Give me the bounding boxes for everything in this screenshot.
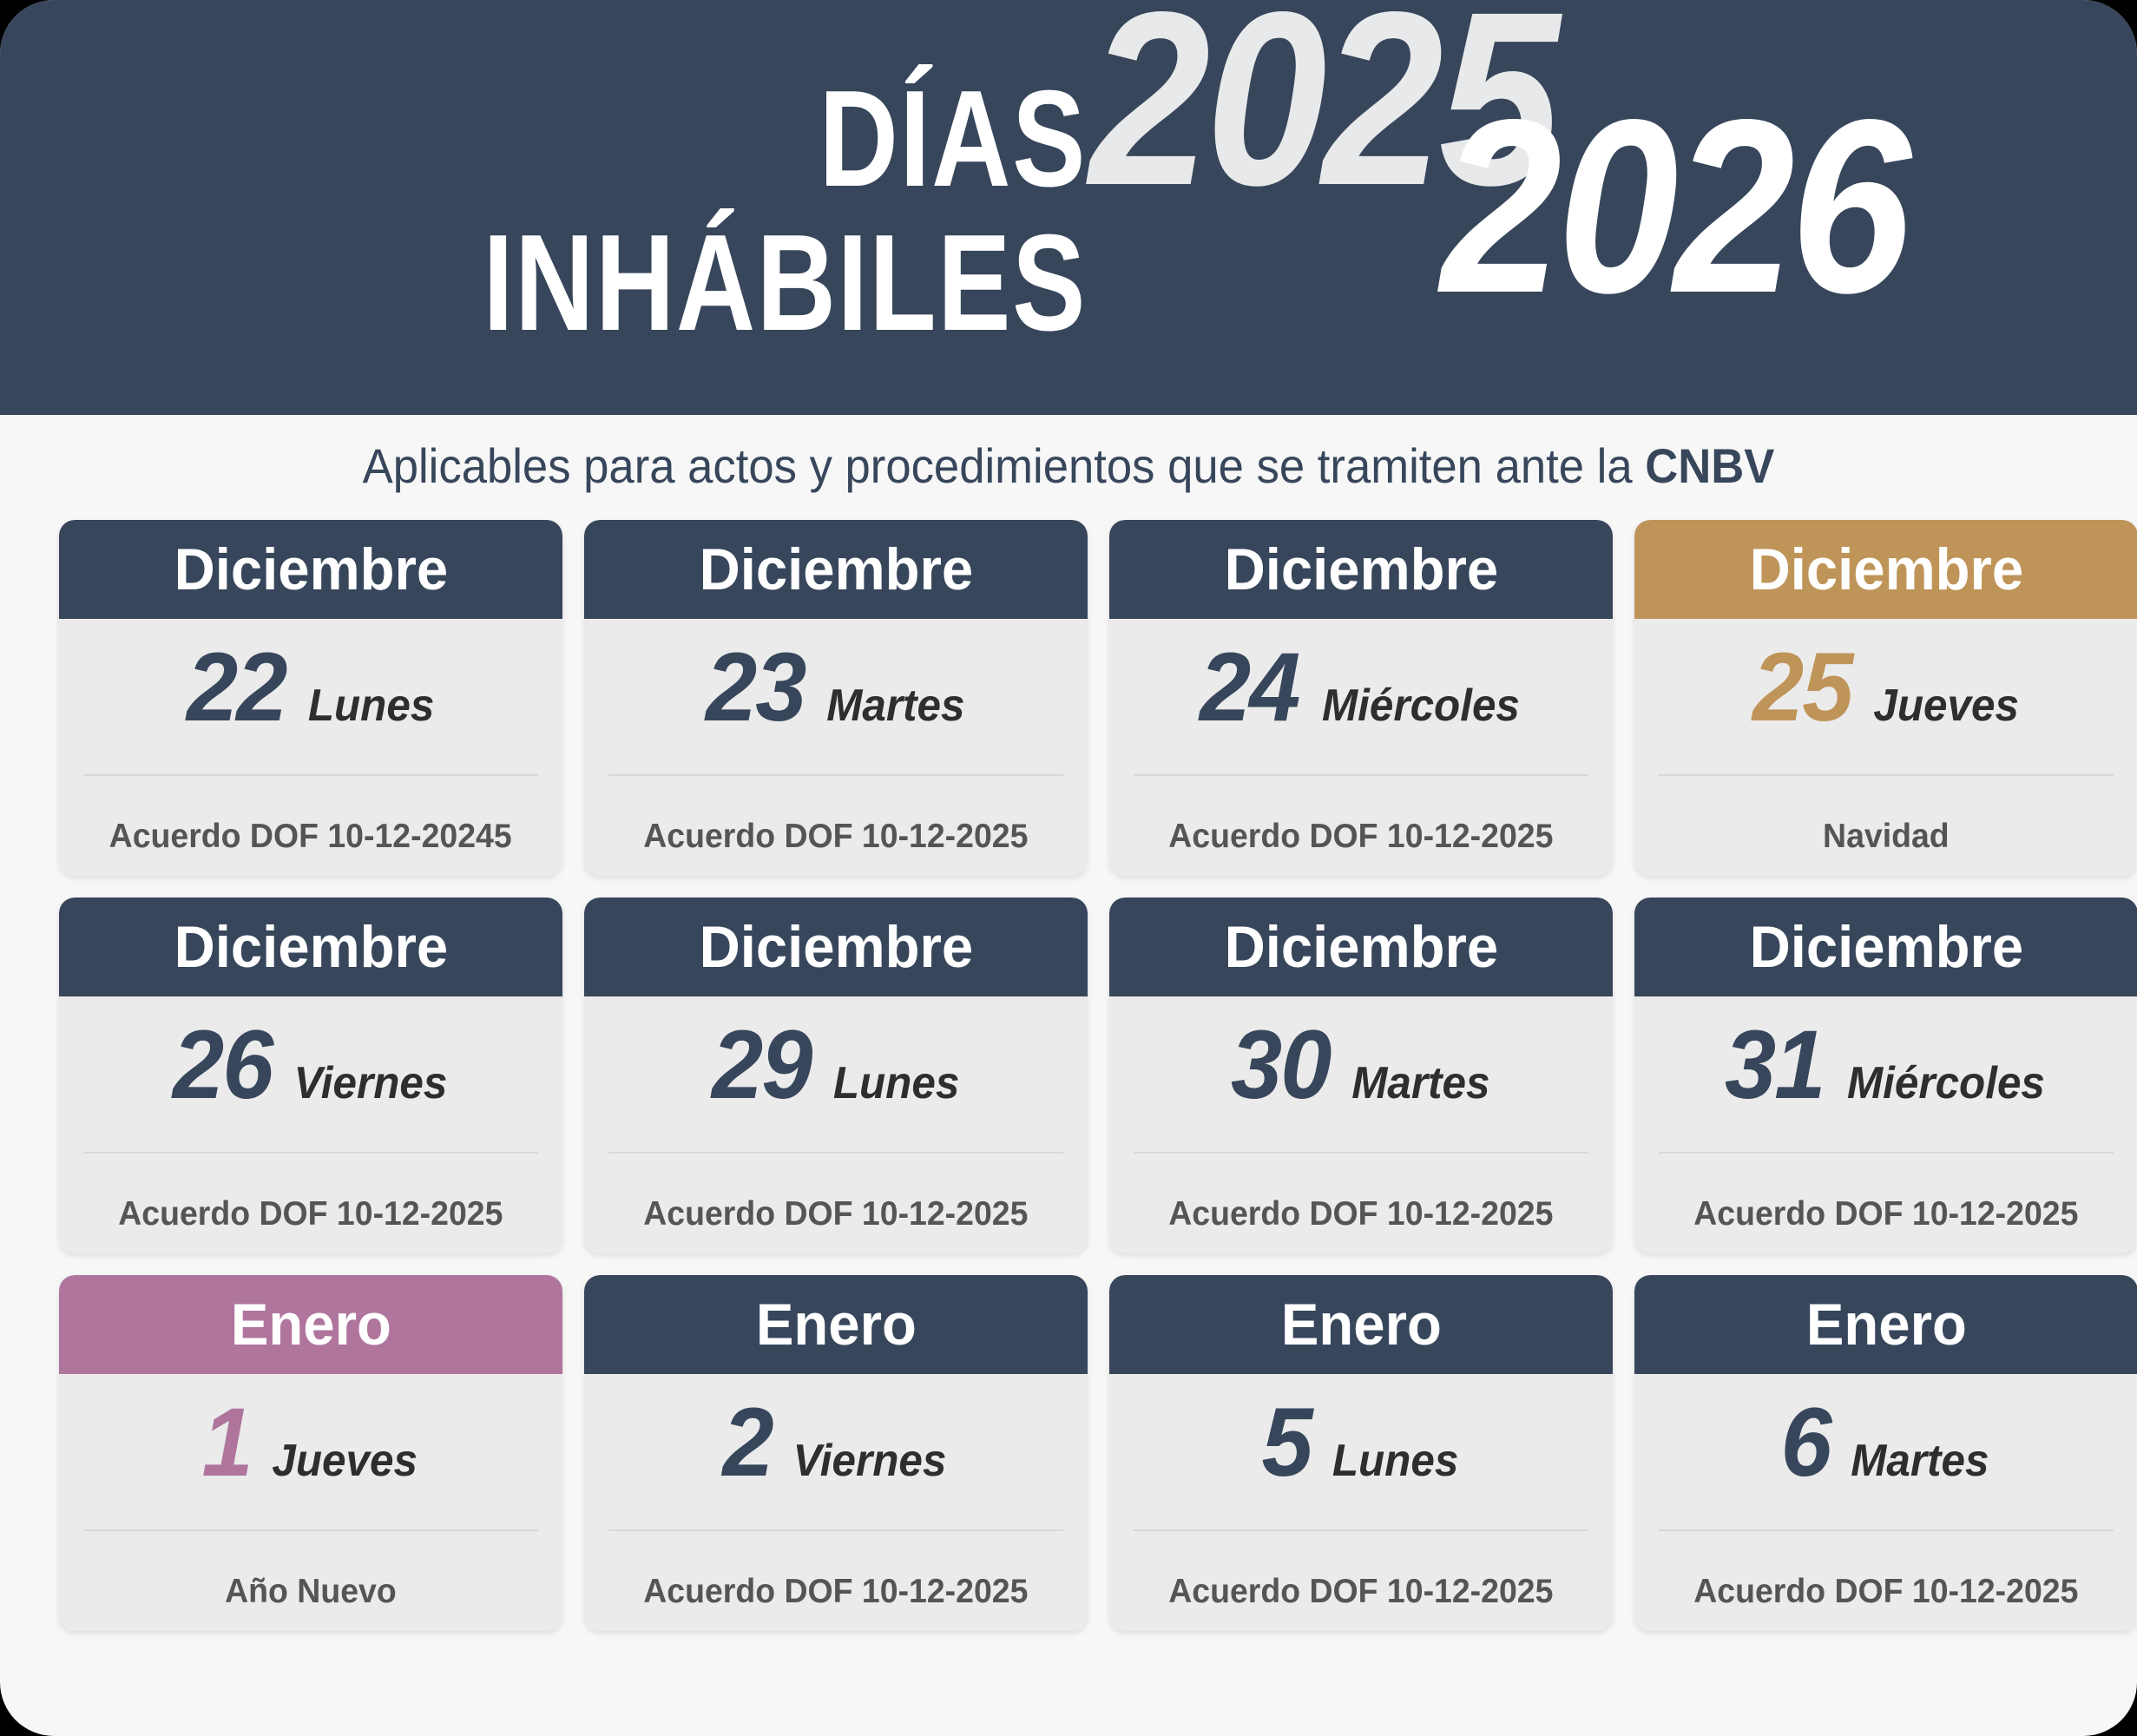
card-day-number: 22 <box>187 639 286 736</box>
holiday-card-grid: Diciembre22LunesAcuerdo DOF 10-12-20245D… <box>0 494 2137 1631</box>
card-note: Acuerdo DOF 10-12-20245 <box>109 776 512 856</box>
holiday-card[interactable]: Enero2ViernesAcuerdo DOF 10-12-2025 <box>584 1275 1088 1631</box>
card-day-number: 25 <box>1752 639 1852 736</box>
card-day-number: 6 <box>1781 1394 1831 1491</box>
card-weekday-label: Lunes <box>308 683 434 728</box>
card-weekday-label: Viernes <box>793 1438 947 1483</box>
card-body: 1JuevesAño Nuevo <box>59 1374 562 1631</box>
card-day-row: 6Martes <box>1779 1394 1993 1524</box>
card-month-label: Enero <box>1280 1295 1441 1354</box>
holiday-card[interactable]: Diciembre22LunesAcuerdo DOF 10-12-20245 <box>59 520 562 876</box>
card-month-header: Diciembre <box>1109 520 1613 619</box>
subtitle-highlight: CNBV <box>1645 438 1774 493</box>
page-title: DÍAS INHÁBILES <box>323 68 1087 356</box>
card-note: Acuerdo DOF 10-12-2025 <box>643 1154 1028 1233</box>
card-weekday-label: Lunes <box>1332 1438 1457 1483</box>
holiday-card[interactable]: Enero1JuevesAño Nuevo <box>59 1275 562 1631</box>
card-month-header: Enero <box>59 1275 562 1374</box>
card-note: Acuerdo DOF 10-12-2025 <box>1168 776 1553 856</box>
card-day-number: 30 <box>1231 1016 1331 1114</box>
card-weekday-label: Martes <box>827 683 965 728</box>
card-day-row: 2Viernes <box>721 1394 950 1524</box>
card-day-number: 1 <box>201 1394 251 1491</box>
card-weekday-label: Miércoles <box>1322 683 1520 728</box>
card-day-number: 24 <box>1200 639 1299 736</box>
card-day-row: 31Miércoles <box>1722 1016 2050 1147</box>
card-body: 23MartesAcuerdo DOF 10-12-2025 <box>584 619 1088 876</box>
card-note: Acuerdo DOF 10-12-2025 <box>1693 1531 2078 1611</box>
card-month-label: Diciembre <box>699 917 973 976</box>
card-body: 25JuevesNavidad <box>1634 619 2137 876</box>
poster-root: DÍAS INHÁBILES 2025 2026 Aplicables para… <box>0 0 2137 1736</box>
card-day-number: 31 <box>1725 1016 1825 1114</box>
holiday-card[interactable]: Diciembre23MartesAcuerdo DOF 10-12-2025 <box>584 520 1088 876</box>
card-day-row: 22Lunes <box>184 639 437 769</box>
card-day-row: 26Viernes <box>170 1016 452 1147</box>
card-month-label: Diciembre <box>1224 540 1498 599</box>
card-body: 5LunesAcuerdo DOF 10-12-2025 <box>1109 1374 1613 1631</box>
card-month-header: Diciembre <box>59 898 562 996</box>
card-day-row: 29Lunes <box>709 1016 963 1147</box>
card-weekday-label: Martes <box>1352 1061 1490 1106</box>
card-month-header: Enero <box>584 1275 1088 1374</box>
card-note: Acuerdo DOF 10-12-2025 <box>643 776 1028 856</box>
card-month-label: Diciembre <box>1749 917 2023 976</box>
card-day-row: 5Lunes <box>1260 1394 1461 1524</box>
card-day-row: 25Jueves <box>1750 639 2023 769</box>
card-month-label: Enero <box>1805 1295 1966 1354</box>
card-note: Navidad <box>1823 776 1950 856</box>
card-day-row: 23Martes <box>703 639 969 769</box>
card-day-row: 24Miércoles <box>1197 639 1525 769</box>
card-month-label: Diciembre <box>699 540 973 599</box>
card-weekday-label: Martes <box>1851 1438 1989 1483</box>
card-day-number: 2 <box>722 1394 772 1491</box>
holiday-card[interactable]: Diciembre24MiércolesAcuerdo DOF 10-12-20… <box>1109 520 1613 876</box>
holiday-card[interactable]: Enero6MartesAcuerdo DOF 10-12-2025 <box>1634 1275 2137 1631</box>
holiday-card[interactable]: Enero5LunesAcuerdo DOF 10-12-2025 <box>1109 1275 1613 1631</box>
subtitle-text: Aplicables para actos y procedimientos q… <box>363 438 1646 493</box>
page-title-line2: INHÁBILES <box>323 212 1087 356</box>
card-month-label: Diciembre <box>1224 917 1498 976</box>
year-secondary: 2026 <box>1441 83 1907 331</box>
card-month-label: Diciembre <box>1749 540 2023 599</box>
card-month-label: Enero <box>755 1295 916 1354</box>
card-day-number: 29 <box>712 1016 812 1114</box>
card-body: 24MiércolesAcuerdo DOF 10-12-2025 <box>1109 619 1613 876</box>
holiday-card[interactable]: Diciembre29LunesAcuerdo DOF 10-12-2025 <box>584 898 1088 1253</box>
card-day-number: 5 <box>1262 1394 1312 1491</box>
card-month-header: Diciembre <box>1634 898 2137 996</box>
card-body: 31MiércolesAcuerdo DOF 10-12-2025 <box>1634 996 2137 1253</box>
holiday-card[interactable]: Diciembre25JuevesNavidad <box>1634 520 2137 876</box>
card-note: Acuerdo DOF 10-12-2025 <box>1168 1531 1553 1611</box>
header-band: DÍAS INHÁBILES 2025 2026 <box>0 0 2137 415</box>
card-month-label: Diciembre <box>174 917 448 976</box>
card-month-header: Diciembre <box>1109 898 1613 996</box>
card-note: Acuerdo DOF 10-12-2025 <box>643 1531 1028 1611</box>
card-body: 30MartesAcuerdo DOF 10-12-2025 <box>1109 996 1613 1253</box>
card-body: 29LunesAcuerdo DOF 10-12-2025 <box>584 996 1088 1253</box>
card-body: 6MartesAcuerdo DOF 10-12-2025 <box>1634 1374 2137 1631</box>
card-weekday-label: Jueves <box>272 1438 418 1483</box>
holiday-card[interactable]: Diciembre31MiércolesAcuerdo DOF 10-12-20… <box>1634 898 2137 1253</box>
card-month-header: Enero <box>1634 1275 2137 1374</box>
card-weekday-label: Miércoles <box>1847 1061 2045 1106</box>
card-day-row: 1Jueves <box>201 1394 422 1524</box>
card-note: Acuerdo DOF 10-12-2025 <box>1693 1154 2078 1233</box>
card-month-label: Enero <box>230 1295 391 1354</box>
card-day-row: 30Martes <box>1228 1016 1494 1147</box>
card-month-header: Diciembre <box>59 520 562 619</box>
holiday-card[interactable]: Diciembre30MartesAcuerdo DOF 10-12-2025 <box>1109 898 1613 1253</box>
card-note: Acuerdo DOF 10-12-2025 <box>1168 1154 1553 1233</box>
card-month-label: Diciembre <box>174 540 448 599</box>
card-month-header: Diciembre <box>584 520 1088 619</box>
subtitle: Aplicables para actos y procedimientos q… <box>64 415 2073 494</box>
holiday-card[interactable]: Diciembre26ViernesAcuerdo DOF 10-12-2025 <box>59 898 562 1253</box>
card-day-number: 23 <box>706 639 805 736</box>
card-weekday-label: Jueves <box>1874 683 2020 728</box>
card-body: 22LunesAcuerdo DOF 10-12-20245 <box>59 619 562 876</box>
card-month-header: Diciembre <box>1634 520 2137 619</box>
card-weekday-label: Lunes <box>833 1061 959 1106</box>
card-month-header: Diciembre <box>584 898 1088 996</box>
card-month-header: Enero <box>1109 1275 1613 1374</box>
card-note: Acuerdo DOF 10-12-2025 <box>118 1154 503 1233</box>
page-title-line1: DÍAS <box>323 68 1087 212</box>
card-day-number: 26 <box>173 1016 273 1114</box>
card-note: Año Nuevo <box>225 1531 397 1611</box>
card-body: 2ViernesAcuerdo DOF 10-12-2025 <box>584 1374 1088 1631</box>
card-weekday-label: Viernes <box>294 1061 448 1106</box>
card-body: 26ViernesAcuerdo DOF 10-12-2025 <box>59 996 562 1253</box>
